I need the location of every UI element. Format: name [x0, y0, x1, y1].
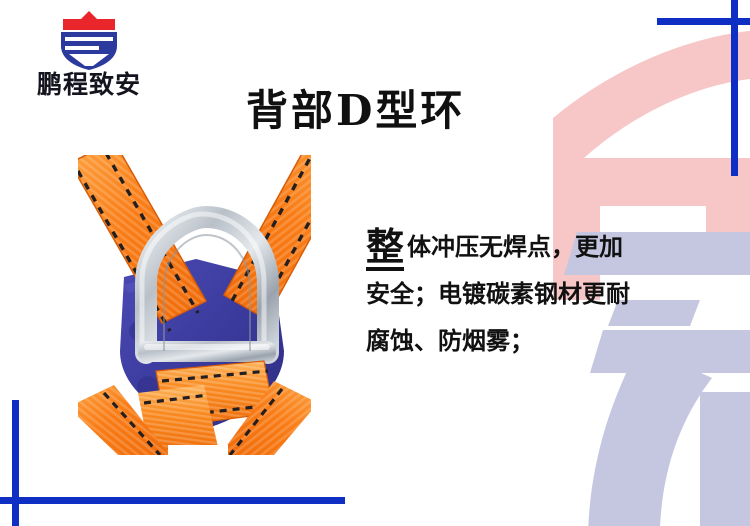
shield-logo-icon: [51, 8, 127, 70]
blue-cross-horizontal-bottom-left: [0, 497, 345, 504]
product-photo: [78, 155, 311, 455]
description-line-2: 安全；电镀碳素钢材更耐: [366, 271, 666, 318]
company-name: 鹏程致安: [14, 72, 164, 97]
blue-cross-vertical-top-right: [731, 0, 738, 176]
blue-cross-horizontal-top-right: [657, 18, 750, 25]
description-line-1: 整体冲压无焊点，更加: [366, 224, 666, 271]
blue-cross-vertical-bottom-left: [12, 400, 19, 526]
description-line-1-rest: 体冲压无焊点，更加: [407, 233, 623, 261]
product-poster: 鹏程致安 背部D型环: [0, 0, 750, 526]
brand-logo: 鹏程致安: [14, 8, 164, 97]
page-title: 背部D型环: [246, 88, 465, 134]
safety-harness-d-ring-photo: [78, 155, 311, 455]
product-description: 整体冲压无焊点，更加 安全；电镀碳素钢材更耐 腐蚀、防烟雾；: [366, 224, 666, 365]
description-lead-character: 整: [366, 228, 404, 271]
description-line-3: 腐蚀、防烟雾；: [366, 318, 666, 365]
